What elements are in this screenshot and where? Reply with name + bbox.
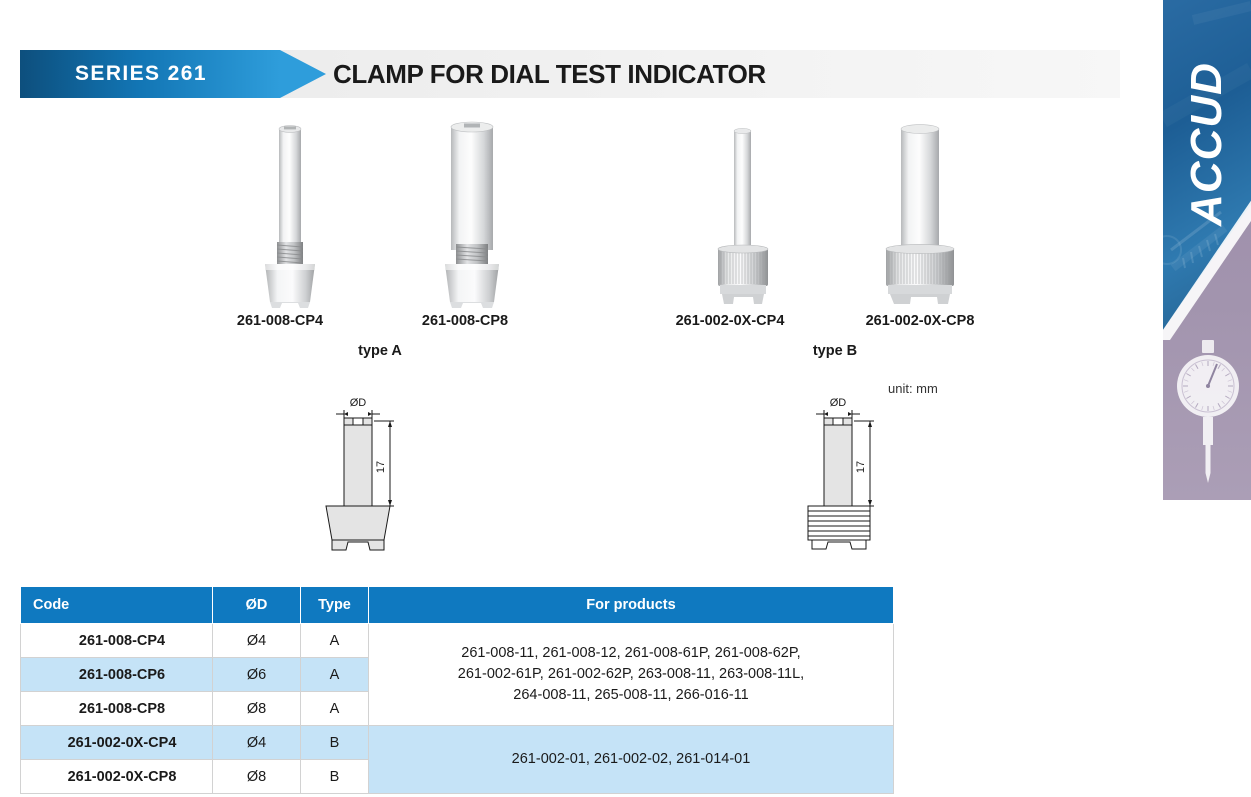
product-photo-261-002-0X-CP8: [870, 118, 970, 308]
for-products-line: 261-008-11, 261-008-12, 261-008-61P, 261…: [379, 643, 883, 664]
for-products-line: 261-002-61P, 261-002-62P, 263-008-11, 26…: [379, 664, 883, 685]
cell-diameter: Ø8: [213, 692, 301, 726]
cell-type: B: [301, 760, 369, 794]
type-b-label: type B: [735, 343, 935, 359]
specification-table: Code ØD Type For products 261-008-CP4 Ø4…: [20, 586, 894, 794]
diameter-label-b: ØD: [830, 397, 847, 409]
unit-note: unit: mm: [888, 381, 938, 396]
technical-drawing-type-b: ØD 17: [792, 388, 902, 553]
column-header-code: Code: [21, 587, 213, 624]
series-label: SERIES 261: [75, 50, 207, 98]
length-label-a: 17: [375, 461, 387, 473]
product-label-261-008-CP8: 261-008-CP8: [365, 313, 565, 329]
cell-code: 261-002-0X-CP4: [21, 726, 213, 760]
product-label-261-002-0X-CP8: 261-002-0X-CP8: [820, 313, 1020, 329]
cell-for-products-a: 261-008-11, 261-008-12, 261-008-61P, 261…: [369, 624, 894, 726]
length-label-b: 17: [855, 461, 867, 473]
accud-logo: ACCUD: [1163, 14, 1251, 274]
for-products-line: 264-008-11, 265-008-11, 266-016-11: [379, 685, 883, 706]
type-a-label: type A: [280, 343, 480, 359]
page-title: CLAMP FOR DIAL TEST INDICATOR: [333, 50, 766, 98]
product-label-261-002-0X-CP4: 261-002-0X-CP4: [630, 313, 830, 329]
cell-type: A: [301, 692, 369, 726]
cell-type: A: [301, 624, 369, 658]
cell-diameter: Ø6: [213, 658, 301, 692]
column-header-diameter: ØD: [213, 587, 301, 624]
cell-code: 261-002-0X-CP8: [21, 760, 213, 794]
column-header-for-products: For products: [369, 587, 894, 624]
cell-code: 261-008-CP8: [21, 692, 213, 726]
cell-for-products-b: 261-002-01, 261-002-02, 261-014-01: [369, 726, 894, 794]
product-photo-261-002-0X-CP4: [700, 118, 790, 308]
column-header-type: Type: [301, 587, 369, 624]
cell-diameter: Ø4: [213, 726, 301, 760]
cell-diameter: Ø4: [213, 624, 301, 658]
cell-type: A: [301, 658, 369, 692]
table-row[interactable]: 261-002-0X-CP4 Ø4 B 261-002-01, 261-002-…: [21, 726, 894, 760]
technical-drawing-type-a: ØD 17: [312, 388, 422, 553]
dial-indicator-icon: [1177, 338, 1239, 488]
brand-sidebar: ACCUD: [1163, 0, 1251, 500]
cell-diameter: Ø8: [213, 760, 301, 794]
cell-code: 261-008-CP4: [21, 624, 213, 658]
table-row[interactable]: 261-008-CP4 Ø4 A 261-008-11, 261-008-12,…: [21, 624, 894, 658]
cell-code: 261-008-CP6: [21, 658, 213, 692]
product-photo-261-008-CP8: [420, 118, 520, 308]
page-header-banner: SERIES 261 CLAMP FOR DIAL TEST INDICATOR: [20, 50, 1120, 98]
banner-arrow-shape: [280, 50, 326, 98]
product-photo-261-008-CP4: [248, 118, 338, 308]
diameter-label-a: ØD: [350, 397, 367, 409]
table-header-row: Code ØD Type For products: [21, 587, 894, 624]
cell-type: B: [301, 726, 369, 760]
product-label-261-008-CP4: 261-008-CP4: [180, 313, 380, 329]
